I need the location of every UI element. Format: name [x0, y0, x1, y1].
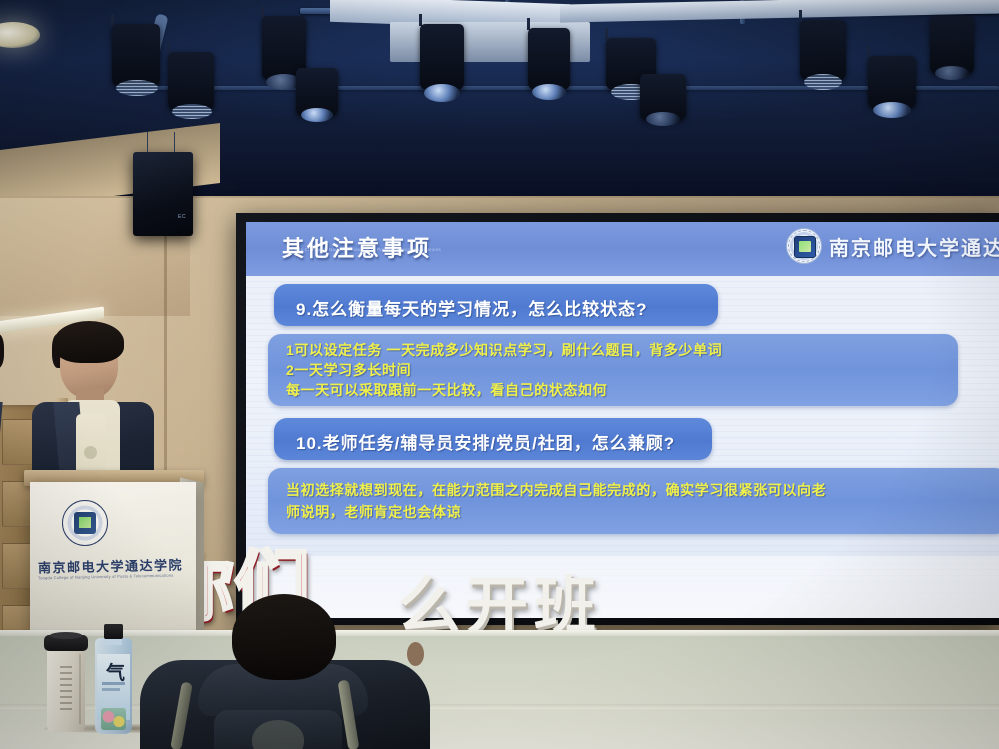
- university-crest-icon: [786, 228, 822, 264]
- podium-crest-icon: [62, 500, 108, 546]
- slide-university-logo: 南京邮电大学通达: [786, 228, 999, 264]
- bottle-label-art: [101, 708, 126, 730]
- answer-line: 2一天学习多长时间: [286, 360, 411, 380]
- audience-member: [140, 594, 430, 749]
- slide-logo-name-en: Tongda College of Nanjing University of …: [287, 247, 441, 252]
- shirt-graphic: [84, 446, 97, 459]
- pa-speaker: EC: [133, 152, 193, 236]
- coffee-cup[interactable]: [47, 644, 85, 732]
- question-box: 10.老师任务/辅导员安排/党员/社团，怎么兼顾?: [274, 418, 712, 460]
- answer-line: 每一天可以采取跟前一天比较，看自己的状态如何: [286, 380, 607, 400]
- audience-head: [232, 594, 336, 680]
- water-bottle[interactable]: 气: [95, 638, 132, 734]
- answer-line: 师说明，老师肯定也会体谅: [286, 502, 461, 522]
- bottle-cap: [104, 624, 123, 639]
- answer-box: 当初选择就想到现在，在能力范围之内完成自己能完成的，确实学习很紧张可以向老 师说…: [268, 468, 999, 534]
- question-text: 10.老师任务/辅导员安排/党员/社团，怎么兼顾?: [296, 429, 675, 454]
- speaker-brand-badge: EC: [178, 214, 186, 220]
- bottle-label-glyph: 气: [106, 658, 125, 685]
- question-text: 9.怎么衡量每天的学习情况，怎么比较状态?: [296, 295, 648, 320]
- lecture-hall-scene: EC 其他注意事项 南京邮电大学通达 Tongda College of Nan…: [0, 0, 999, 749]
- answer-line: 1可以设定任务 一天完成多少知识点学习，刷什么题目，背多少单词: [286, 340, 722, 360]
- light-lens-grid: [116, 80, 158, 96]
- answer-line: 当初选择就想到现在，在能力范围之内完成自己能完成的，确实学习很紧张可以向老: [286, 480, 826, 500]
- question-box: 9.怎么衡量每天的学习情况，怎么比较状态?: [274, 284, 718, 326]
- slide-logo-name-cn: 南京邮电大学通达: [829, 232, 999, 261]
- answer-box: 1可以设定任务 一天完成多少知识点学习，刷什么题目，背多少单词 2一天学习多长时…: [268, 334, 958, 406]
- presenter-hair: [54, 321, 124, 363]
